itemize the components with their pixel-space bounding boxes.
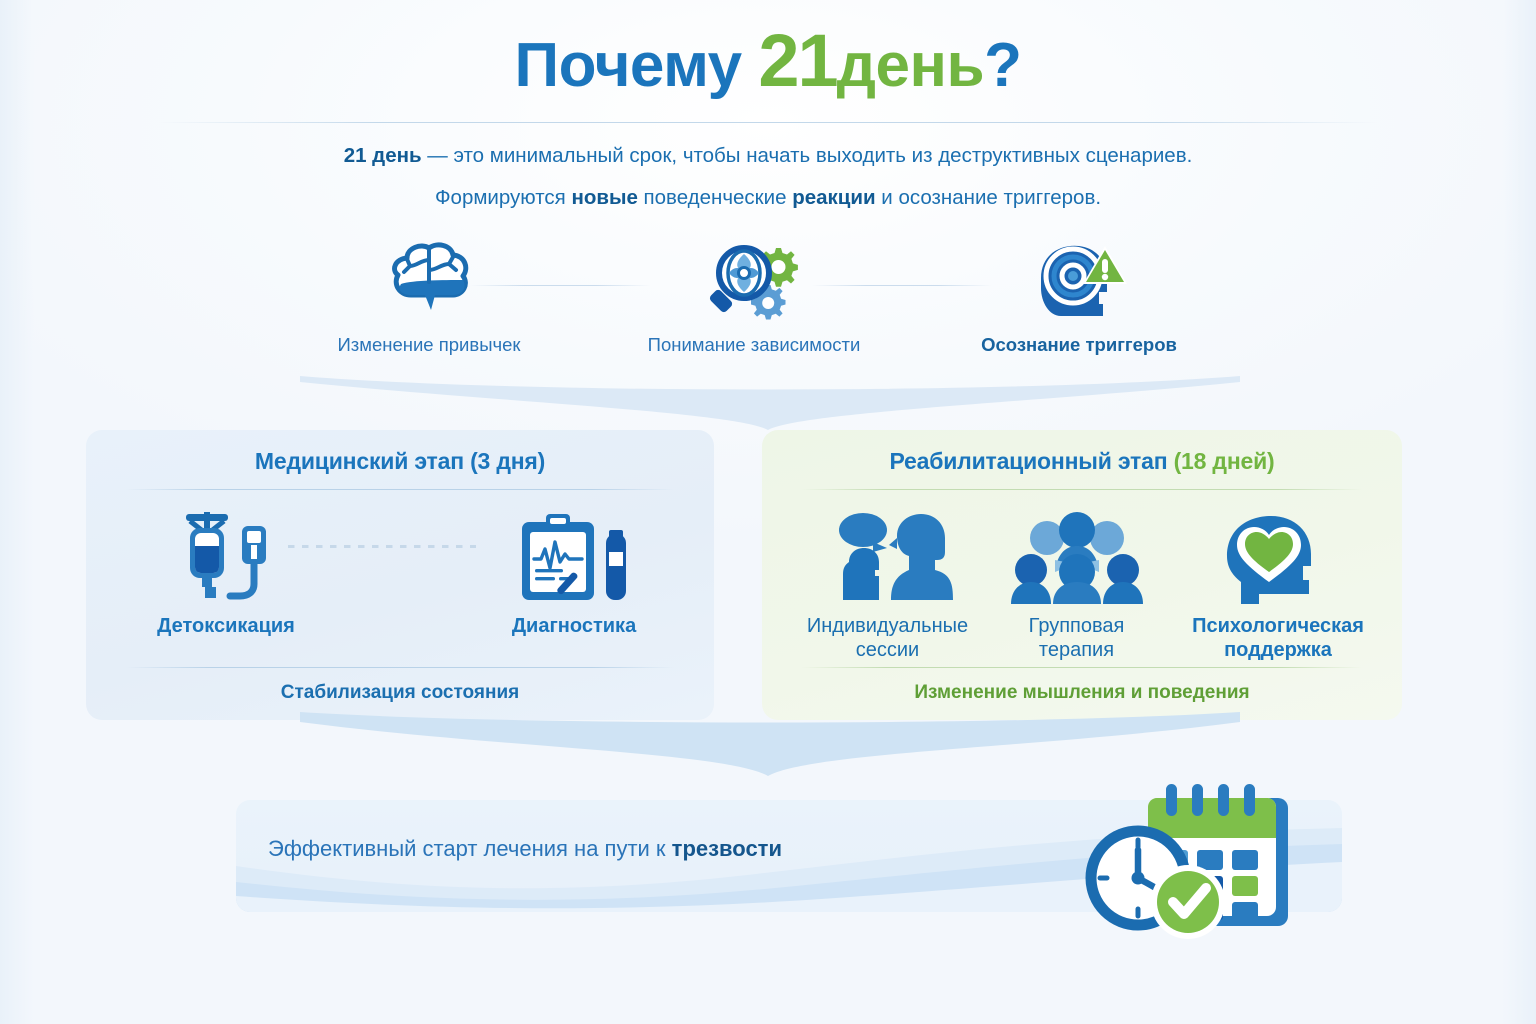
page-title: Почему 21день? [0,24,1536,98]
card-rehab-footer-divider [802,667,1362,668]
concept-icon-row: Изменение привычек [284,240,1224,370]
title-divider [158,122,1378,123]
concept-label-habits: Изменение привычек [284,334,574,356]
banner-text-bold: трезвости [672,836,782,861]
lead-bold-novye: новые [571,186,637,209]
rehab-label-psychological-line1: Психологическая [1166,614,1391,638]
card-rehab-title-days: (18 дней) [1174,448,1275,474]
card-medical-items: Детоксикация [86,512,714,638]
lead-line-1: 21 день — это минимальный срок, чтобы на… [0,140,1536,172]
medical-item-detox: Детоксикация [110,512,342,638]
concept-label-understanding: Понимание зависимости [609,334,899,356]
medical-label-detox: Детоксикация [110,614,342,638]
infographic-page: Почему 21день? 21 день — это минимальный… [0,0,1536,1024]
lead-line-1-rest: — это минимальный срок, чтобы начать вых… [422,144,1193,167]
rehab-label-group-line1: Групповая [992,614,1162,638]
concept-item-habits: Изменение привычек [284,240,574,356]
head-target-warning-icon [934,240,1224,322]
card-rehab-items: Индивидуальные сессии [762,512,1402,662]
lead-line-2-a: Формируются [435,186,571,209]
rehab-item-individual: Индивидуальные сессии [788,512,988,662]
concept-item-triggers: Осознание триггеров [934,240,1224,356]
iv-drip-icon [110,512,342,604]
title-word-pochemu: Почему [515,31,742,100]
card-medical-footer-divider [126,667,674,668]
lead-paragraph: 21 день — это минимальный срок, чтобы на… [0,140,1536,214]
card-rehab-title-main: Реабилитационный этап [889,448,1173,474]
head-heart-icon [1166,512,1391,604]
card-medical-title-divider [126,489,674,490]
title-word-den: день [837,31,984,100]
medical-item-diagnostics: Диагностика [458,512,690,638]
rehab-label-individual-line1: Индивидуальные [788,614,988,638]
magnifier-gears-icon [609,240,899,322]
card-rehab-stage: Реабилитационный этап (18 дней) Индивиду… [762,430,1402,720]
lead-line-2: Формируются новые поведенческие реакции … [0,182,1536,214]
card-rehab-title: Реабилитационный этап (18 дней) [762,430,1402,475]
rehab-item-group: Групповая терапия [992,512,1162,662]
banner-text: Эффективный старт лечения на пути к трез… [268,836,782,862]
rehab-label-group-line2: терапия [992,638,1162,662]
concept-label-triggers: Осознание триггеров [934,334,1224,356]
card-rehab-title-divider [802,489,1362,490]
banner-text-a: Эффективный старт лечения на пути к [268,836,672,861]
brain-icon [284,240,574,322]
concept-item-understanding: Понимание зависимости [609,240,899,356]
two-people-speech-icon [788,512,988,604]
group-people-icon [992,512,1162,604]
rehab-label-psychological: Психологическая поддержка [1166,614,1391,662]
rehab-label-psychological-line2: поддержка [1166,638,1391,662]
rehab-label-group: Групповая терапия [992,614,1162,662]
title-question-mark: ? [984,31,1021,100]
card-medical-stage: Медицинский этап (3 дня) [86,430,714,720]
card-medical-title: Медицинский этап (3 дня) [86,430,714,475]
lead-bold-21den: 21 день [344,144,422,167]
lead-line-2-c: поведенческие [638,186,792,209]
lead-line-2-d: и осознание триггеров. [876,186,1101,209]
medical-items-dotted-connector [288,545,476,548]
clipboard-testtube-icon [458,512,690,604]
lead-bold-reakcii: реакции [792,186,875,209]
rehab-label-individual-line2: сессии [788,638,988,662]
medical-label-diagnostics: Диагностика [458,614,690,638]
title-number-21: 21 [758,19,836,102]
clock-calendar-check-icon [1070,780,1310,945]
rehab-label-individual: Индивидуальные сессии [788,614,988,662]
rehab-item-psychological: Психологическая поддержка [1166,512,1391,662]
